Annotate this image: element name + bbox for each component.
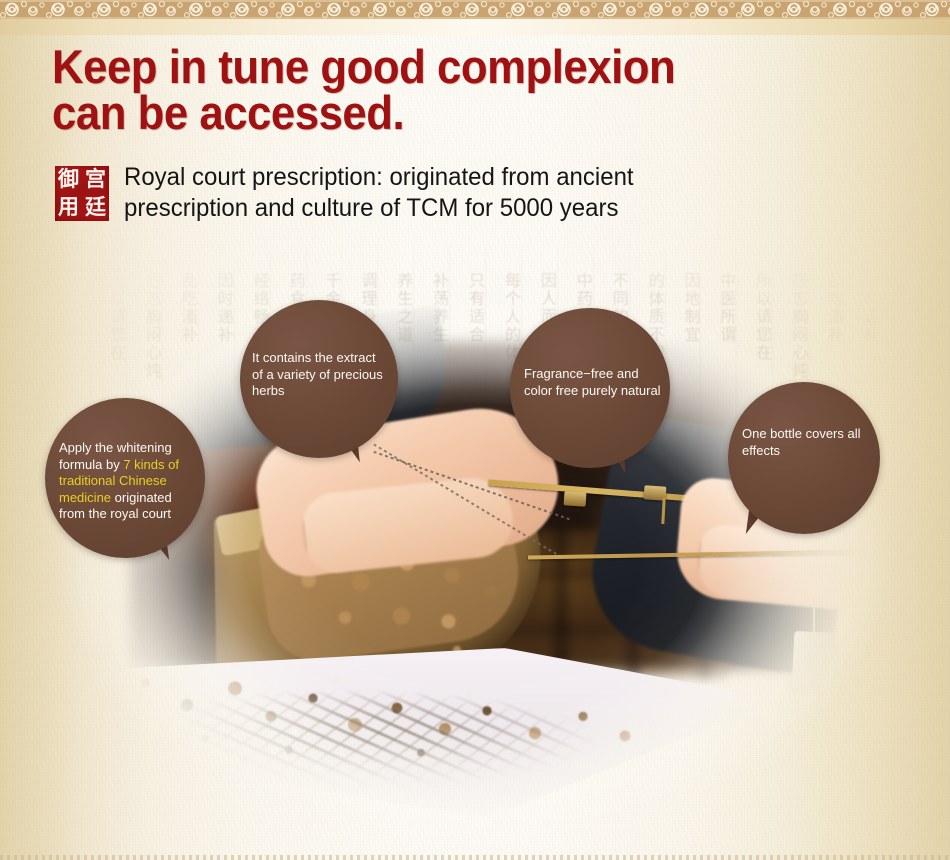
spiral-thunder-pattern-border [0,0,950,19]
title-line-2: can be accessed. [52,90,861,136]
bubble-one-bottle: One bottle covers all effects [728,382,888,542]
subtitle-line-2: prescription and culture of TCM for 5000… [124,193,634,224]
seal-char-3: 用 [55,194,82,222]
bubble-fragrance-free: Fragrance−free and color free purely nat… [510,308,680,478]
title-line-1: Keep in tune good complexion [52,44,861,90]
seal-char-1: 御 [55,166,82,194]
bubble-text: One bottle covers all effects [742,426,874,459]
seal-char-4: 廷 [82,194,109,222]
bubble-text: Apply the whitening formula by 7 kinds o… [59,440,197,523]
bottom-dotted-rule [0,855,950,860]
header-block: Keep in tune good complexion can be acce… [0,34,950,230]
photo-vignette [58,300,892,840]
border-glow-strip [0,19,950,35]
tcm-herbs-weighing-photo [58,300,892,840]
bubble-whitening-formula: Apply the whitening formula by 7 kinds o… [45,398,215,563]
subtitle-line-1: Royal court prescription: originated fro… [124,162,634,193]
bubble-text: Fragrance−free and color free purely nat… [524,366,662,399]
bubble-precious-herbs: It contains the extract of a variety of … [240,300,410,468]
bubble-text: It contains the extract of a variety of … [252,350,388,400]
subtitle: Royal court prescription: originated fro… [124,162,634,224]
page-title: Keep in tune good complexion can be acce… [52,44,861,136]
promotional-poster: 因时递补乱吃滀补怨志胸闷心炖所以请您在中医所谓因地制宜的体质不同不同的人有中药调… [0,0,950,860]
seal-char-2: 宫 [82,166,109,194]
subtitle-block: 御 宫 用 廷 Royal court prescription: origin… [55,162,655,224]
imperial-court-seal-icon: 御 宫 用 廷 [55,166,109,221]
